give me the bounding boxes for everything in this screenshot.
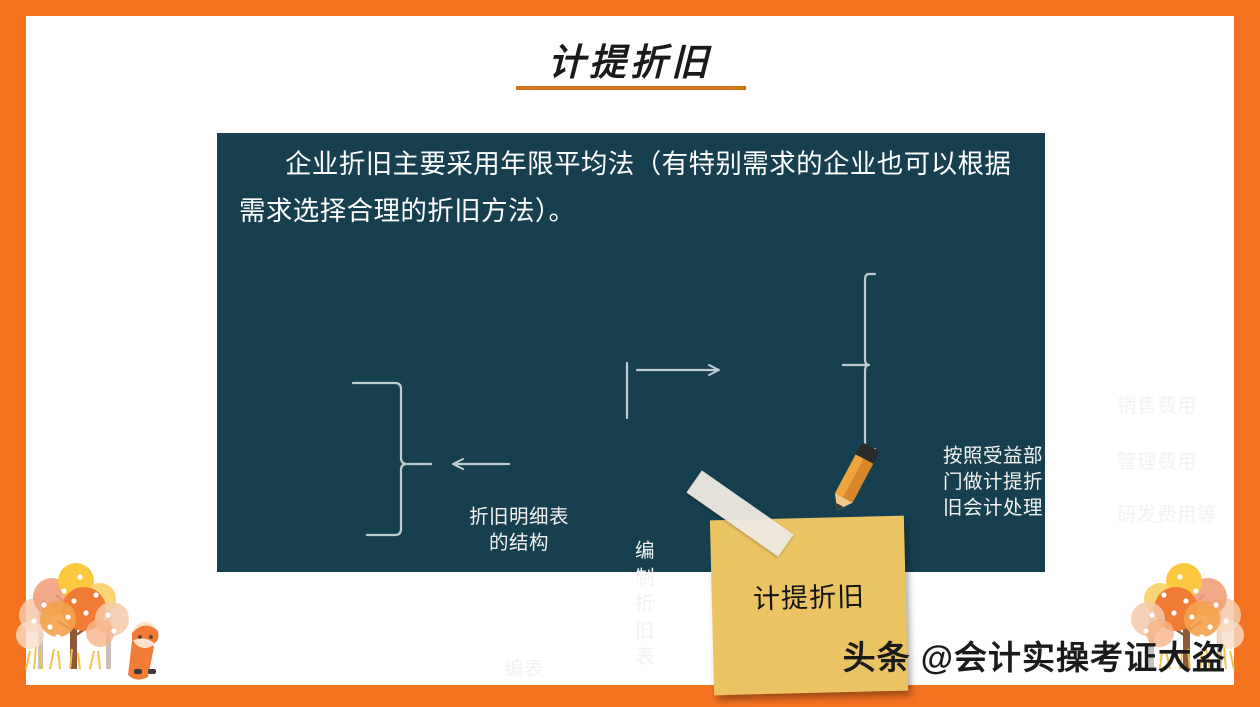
title-underline [516, 86, 746, 90]
node-prepare-table: 编表 [504, 656, 544, 682]
pencil-icon [828, 442, 881, 516]
sticky-note-label: 计提折旧 [712, 574, 907, 618]
node-left-main-char: 旧 [634, 618, 656, 645]
node-left-main-char: 制 [634, 565, 656, 592]
slide-canvas: 计提折旧 企业折旧主要采用年限平均法（有特别需求的企业也可以根据需求选择合理的折… [0, 0, 1260, 707]
node-left-main-char: 编 [634, 538, 656, 565]
node-left-main-vertical: 编 制 折 旧 表 [634, 538, 656, 671]
node-right-main: 按照受益部 门做计提折 旧会计处理 [943, 443, 1043, 521]
watermark-text: 头条 @会计实操考证大盗 [843, 631, 1226, 679]
body-paragraph: 企业折旧主要采用年限平均法（有特别需求的企业也可以根据需求选择合理的折旧方法）。 [239, 141, 1029, 235]
content-panel: 企业折旧主要采用年限平均法（有特别需求的企业也可以根据需求选择合理的折旧方法）。 [217, 133, 1045, 572]
node-left-main-char: 表 [634, 644, 656, 671]
autumn-trees-left-decoration [14, 547, 204, 687]
frame-border-bottom [0, 685, 1260, 707]
node-sales-expense: 销售费用 [1117, 393, 1197, 419]
frame-border-top [0, 0, 1260, 16]
node-left-main-char: 折 [634, 591, 656, 618]
node-rnd-expense: 研发费用等 [1117, 502, 1217, 528]
node-depreciation-schedule-structure: 折旧明细表 的结构 [449, 504, 589, 556]
node-admin-expense: 管理费用 [1117, 449, 1197, 475]
page-title: 计提折旧 [0, 32, 1260, 86]
